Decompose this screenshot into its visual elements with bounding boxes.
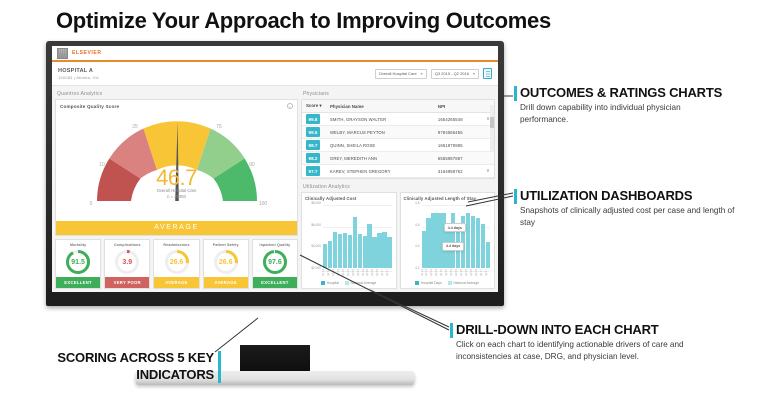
bar[interactable]: [377, 233, 381, 268]
y-tick-label: 4.8: [415, 201, 419, 205]
callout-body: Drill down capability into individual ph…: [520, 102, 730, 125]
cell-score: 97.7: [302, 165, 324, 178]
legend-item[interactable]: Hospital Days: [415, 281, 441, 285]
kpi-label: Inpatient Quality: [260, 243, 291, 247]
bar[interactable]: [343, 233, 347, 268]
bar[interactable]: [486, 242, 490, 268]
table-row[interactable]: 97.7KAREV, STEPHEN GREGORY3164958762∨: [302, 165, 494, 178]
cell-npi: 3164958762: [434, 165, 482, 178]
table-row[interactable]: 98.7QUINN, SHEILA ROSE1661879985: [302, 139, 494, 152]
utilization-charts: Clinically Adjusted Cost$8,000$6,000$4,0…: [301, 192, 495, 289]
kpi-label: Complications: [114, 243, 141, 247]
callout-accent-bar: [450, 323, 453, 338]
chart-tooltip: 4.4 days: [444, 223, 466, 232]
y-tick-label: $6,000: [311, 223, 321, 227]
cell-physician-name: KAREV, STEPHEN GREGORY: [326, 165, 434, 178]
hospital-meta: 150083 | Atlanta, GA: [58, 75, 99, 80]
chevron-down-icon: ▾: [473, 71, 475, 76]
kpi-card[interactable]: Readmissions26.6AVERAGE: [153, 239, 199, 290]
column-npi[interactable]: NPI: [434, 100, 494, 113]
kpi-rating-band: VERY POOR: [105, 277, 149, 288]
x-axis: Q1 14Q2 14Q3 14Q4 14Q1 15Q2 15Q3 15Q4 15…: [422, 268, 491, 276]
x-tick-label: Q2 17: [387, 268, 391, 276]
y-tick-label: 4.4: [415, 244, 419, 248]
y-tick-label: 4.2: [415, 266, 419, 270]
chart-tooltip: 4.4 days: [442, 242, 464, 251]
column-physician-name[interactable]: Physician Name: [326, 100, 434, 113]
callout-accent-bar: [514, 189, 517, 204]
callout-title: OUTCOMES & RATINGS CHARTS: [520, 85, 730, 100]
bar-series: [422, 205, 491, 268]
score-badge: 97.7: [306, 166, 320, 176]
score-badge: 99.8: [306, 114, 320, 124]
kpi-card[interactable]: Inpatient Quality97.6EXCELLENT: [252, 239, 298, 290]
table-scrollbar-thumb[interactable]: [490, 117, 494, 128]
physicians-table-body: 99.8SMITH, GRAYSON WALTER1654265548∧99.5…: [302, 113, 494, 178]
monitor-mockup: ELSEVIER HOSPITAL A 150083 | Atlanta, GA…: [46, 41, 504, 306]
kpi-value: 26.6: [213, 249, 239, 275]
chart-legend: Hospital DaysNational Average: [404, 280, 492, 285]
care-type-value: Overall Hospital Care: [379, 71, 417, 76]
legend-item[interactable]: National Average: [345, 281, 376, 285]
cell-npi: 9784566455: [434, 126, 482, 139]
bar[interactable]: [471, 216, 475, 268]
table-header-row: Score ▾ Physician Name NPI: [302, 100, 494, 113]
legend-swatch: [448, 281, 452, 285]
kpi-rating-band: AVERAGE: [154, 277, 198, 288]
callout-utilization-dashboards: UTILIZATION DASHBOARDS Snapshots of clin…: [520, 188, 740, 228]
bar[interactable]: [441, 213, 445, 268]
bar[interactable]: [328, 241, 332, 268]
callout-scoring-indicators: SCORING ACROSS 5 KEY INDICATORS: [56, 349, 214, 383]
kpi-card[interactable]: Mortality91.5EXCELLENT: [55, 239, 101, 290]
chart-legend: HospitalNational Average: [305, 280, 393, 285]
gauge-caption-n: n = 25084: [157, 194, 197, 200]
column-score[interactable]: Score ▾: [302, 100, 326, 113]
svg-text:100: 100: [258, 201, 266, 207]
kpi-rating-band: AVERAGE: [204, 277, 248, 288]
utilization-section-title: Utilization Analytics: [301, 182, 495, 192]
composite-quality-score-card[interactable]: Composite Quality Score i: [55, 99, 298, 236]
kpi-rating-band: EXCELLENT: [56, 277, 100, 288]
bar[interactable]: [363, 236, 367, 268]
kpi-card[interactable]: Patient Safety26.6AVERAGE: [203, 239, 249, 290]
kpi-ring: 91.5: [65, 249, 91, 275]
cell-physician-name: QUINN, SHEILA ROSE: [326, 139, 434, 152]
kpi-label: Patient Safety: [213, 243, 239, 247]
legend-item[interactable]: Hospital: [321, 281, 339, 285]
x-tick-label: Q4 15: [358, 268, 362, 276]
kpi-ring: 26.6: [164, 249, 190, 275]
scroll-down-icon[interactable]: ∨: [482, 165, 494, 178]
y-axis: 4.84.64.44.2: [404, 203, 421, 268]
bar[interactable]: [358, 234, 362, 268]
y-tick-label: $8,000: [311, 201, 321, 205]
hospital-context-bar: HOSPITAL A 150083 | Atlanta, GA Overall …: [52, 62, 498, 86]
gauge-caption-measure: Overall Hospital Care: [157, 188, 197, 194]
cell-npi: 1654265548: [434, 113, 482, 126]
chart-plot: $8,000$6,000$4,000$2,000Q1 14Q2 14Q3 14Q…: [305, 203, 393, 280]
legend-label: Hospital: [327, 281, 339, 285]
kpi-card[interactable]: Complications3.9VERY POOR: [104, 239, 150, 290]
table-row[interactable]: 98.2GREY, MEREDITH ANN6555987887: [302, 152, 494, 165]
svg-text:25: 25: [132, 124, 138, 130]
cell-physician-name: SMITH, GRAYSON WALTER: [326, 113, 434, 126]
score-badge: 98.2: [306, 153, 320, 163]
hospital-name: HOSPITAL A: [58, 68, 99, 74]
bar[interactable]: [348, 235, 352, 268]
kpi-value: 91.5: [65, 249, 91, 275]
bar[interactable]: [338, 234, 342, 268]
cell-score: 98.7: [302, 139, 324, 152]
svg-text:10: 10: [99, 162, 105, 168]
bar[interactable]: [422, 231, 426, 268]
bar[interactable]: [426, 218, 430, 268]
table-scrollbar[interactable]: [490, 105, 494, 151]
table-row[interactable]: 99.5WELBY, MARCUS PEYTON9784566455: [302, 126, 494, 139]
x-tick-label: Q3 15: [353, 268, 357, 276]
bar[interactable]: [481, 224, 485, 268]
svg-text:0: 0: [89, 201, 92, 207]
cell-score: 99.5: [302, 126, 324, 139]
table-row[interactable]: 99.8SMITH, GRAYSON WALTER1654265548∧: [302, 113, 494, 126]
score-badge: 99.5: [306, 127, 320, 137]
bar[interactable]: [333, 232, 337, 268]
bar-series: [323, 205, 392, 268]
export-document-icon[interactable]: [483, 68, 492, 79]
page-title: Optimize Your Approach to Improving Outc…: [56, 8, 551, 34]
callout-accent-bar: [514, 86, 517, 101]
chevron-down-icon: ▾: [421, 71, 423, 76]
cell-physician-name: WELBY, MARCUS PEYTON: [326, 126, 434, 139]
dashboard-body: Quantros Analytics Composite Quality Sco…: [52, 86, 498, 292]
physicians-table: Score ▾ Physician Name NPI 99.8SMITH, GR…: [302, 100, 494, 178]
gauge-card-title: Composite Quality Score: [60, 104, 119, 109]
cell-score: 99.8: [302, 113, 324, 126]
kpi-value: 3.9: [114, 249, 140, 275]
bar[interactable]: [387, 237, 391, 268]
svg-text:90: 90: [249, 162, 255, 168]
y-axis: $8,000$6,000$4,000$2,000: [305, 203, 322, 268]
callout-accent-bar: [218, 351, 221, 383]
brand-wordmark: ELSEVIER: [72, 50, 102, 56]
bar[interactable]: [372, 237, 376, 269]
period-value: Q3 2015 - Q2 2016: [435, 71, 469, 76]
callout-drill-down: DRILL-DOWN INTO EACH CHART Click on each…: [456, 322, 691, 362]
svg-text:75: 75: [216, 124, 222, 130]
cell-score: 98.2: [302, 152, 324, 165]
callout-title: SCORING ACROSS 5 KEY INDICATORS: [56, 349, 214, 383]
y-tick-label: $4,000: [311, 244, 321, 248]
bar[interactable]: [367, 224, 371, 268]
legend-swatch: [345, 281, 349, 285]
gauge-caption: Overall Hospital Care n = 25084: [157, 188, 197, 199]
bar[interactable]: [451, 213, 455, 268]
bar[interactable]: [436, 213, 440, 268]
physicians-table-card[interactable]: Score ▾ Physician Name NPI 99.8SMITH, GR…: [301, 99, 495, 179]
chart-card[interactable]: Clinically Adjusted Length of Stay4.84.6…: [400, 192, 496, 289]
callout-body: Click on each chart to identifying actio…: [456, 339, 691, 362]
y-tick-label: 4.6: [415, 223, 419, 227]
legend-swatch: [415, 281, 419, 285]
bar[interactable]: [476, 218, 480, 268]
analytics-column: Quantros Analytics Composite Quality Sco…: [55, 89, 298, 289]
x-axis: Q1 14Q2 14Q3 14Q4 14Q1 15Q2 15Q3 15Q4 15…: [323, 268, 392, 276]
callout-outcomes-ratings: OUTCOMES & RATINGS CHARTS Drill down cap…: [520, 85, 730, 125]
bar[interactable]: [353, 217, 357, 268]
bar[interactable]: [323, 244, 327, 268]
kpi-label: Mortality: [70, 243, 86, 247]
chart-plot: 4.84.64.44.2Q1 14Q2 14Q3 14Q4 14Q1 15Q2 …: [404, 203, 492, 280]
cell-npi: 1661879985: [434, 139, 482, 152]
gauge-rating-band: AVERAGE: [56, 221, 297, 235]
legend-label: National Average: [350, 281, 376, 285]
kpi-ring: 3.9: [114, 249, 140, 275]
bar[interactable]: [382, 232, 386, 268]
analytics-section-title: Quantros Analytics: [55, 89, 298, 99]
row-spacer: [482, 152, 494, 165]
bar[interactable]: [431, 213, 435, 268]
monitor-screen: ELSEVIER HOSPITAL A 150083 | Atlanta, GA…: [52, 46, 498, 292]
right-column: Physicians Score ▾ Physician Name NPI: [301, 89, 495, 289]
app-header: ELSEVIER: [52, 46, 498, 62]
bar[interactable]: [466, 213, 470, 268]
care-type-select[interactable]: Overall Hospital Care ▾: [375, 69, 427, 79]
cell-physician-name: GREY, MEREDITH ANN: [326, 152, 434, 165]
callout-title: DRILL-DOWN INTO EACH CHART: [456, 322, 691, 337]
chart-card[interactable]: Clinically Adjusted Cost$8,000$6,000$4,0…: [301, 192, 397, 289]
kpi-row: Mortality91.5EXCELLENTComplications3.9VE…: [55, 239, 298, 290]
kpi-value: 26.6: [164, 249, 190, 275]
cell-npi: 6555987887: [434, 152, 482, 165]
x-tick-label: Q2 17: [486, 268, 490, 276]
legend-swatch: [321, 281, 325, 285]
kpi-label: Readmissions: [163, 243, 189, 247]
physicians-section-title: Physicians: [301, 89, 495, 99]
legend-label: National Average: [453, 281, 479, 285]
gauge-plot: 0 10 25 75 90 100 46.7 Overall Hospital …: [56, 109, 297, 221]
kpi-ring: 26.6: [213, 249, 239, 275]
physicians-section: Physicians Score ▾ Physician Name NPI: [301, 89, 495, 179]
elsevier-tree-icon: [57, 48, 68, 59]
legend-label: Hospital Days: [421, 281, 442, 285]
period-select[interactable]: Q3 2015 - Q2 2016 ▾: [431, 69, 479, 79]
legend-item[interactable]: National Average: [448, 281, 479, 285]
score-badge: 98.7: [306, 140, 320, 150]
utilization-section: Utilization Analytics Clinically Adjuste…: [301, 182, 495, 289]
kpi-value: 97.6: [262, 249, 288, 275]
dashboard-app: ELSEVIER HOSPITAL A 150083 | Atlanta, GA…: [52, 46, 498, 292]
gauge-card-header: Composite Quality Score i: [56, 100, 297, 109]
hospital-info: HOSPITAL A 150083 | Atlanta, GA: [58, 68, 99, 80]
filter-group: Overall Hospital Care ▾ Q3 2015 - Q2 201…: [375, 68, 492, 79]
kpi-ring: 97.6: [262, 249, 288, 275]
kpi-rating-band: EXCELLENT: [253, 277, 297, 288]
y-tick-label: $2,000: [311, 266, 321, 270]
callout-body: Snapshots of clinically adjusted cost pe…: [520, 205, 740, 228]
callout-title: UTILIZATION DASHBOARDS: [520, 188, 740, 203]
